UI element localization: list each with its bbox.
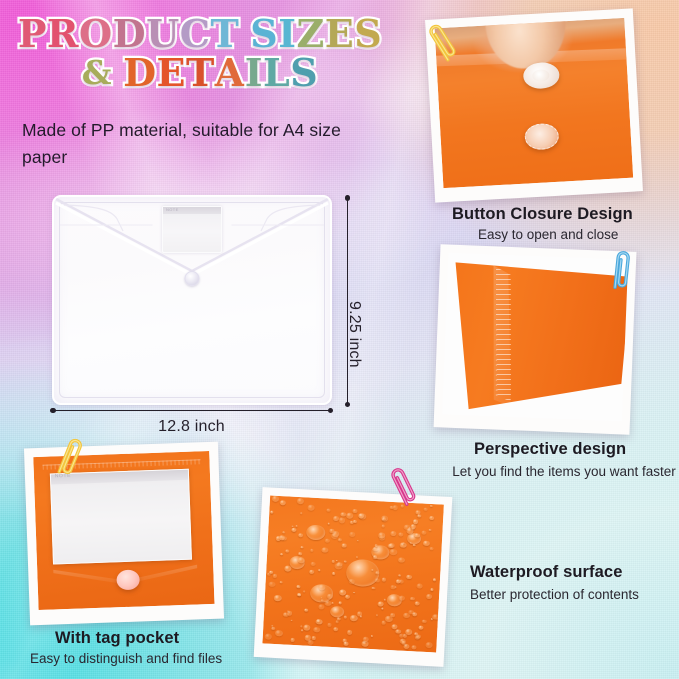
water-droplet (423, 508, 428, 512)
water-droplet (290, 638, 295, 642)
water-droplet (422, 540, 430, 546)
water-droplet (272, 496, 279, 502)
snap-button-lower (524, 122, 560, 150)
water-droplet (301, 546, 304, 548)
water-droplet (372, 587, 375, 590)
width-dimension-line: 12.8 inch (52, 410, 331, 411)
water-droplet (398, 557, 405, 563)
water-droplet (312, 636, 316, 639)
water-droplet (274, 595, 282, 601)
water-droplet (310, 561, 316, 566)
feature-title-waterproof-surface: Waterproof surface (470, 563, 622, 582)
feature-photo-perspective-design (434, 244, 637, 434)
water-droplet (398, 574, 401, 577)
water-droplet (304, 608, 308, 611)
water-droplet (338, 601, 342, 604)
water-droplet (413, 544, 416, 547)
water-droplet (381, 524, 385, 527)
water-droplet (330, 529, 334, 533)
feature-subtitle-button-closure: Easy to open and close (478, 226, 618, 244)
feature-title-perspective-design: Perspective design (474, 440, 626, 459)
water-droplet (382, 577, 387, 581)
water-droplet (411, 645, 416, 649)
feature-photo-tag-pocket: NOTE (24, 442, 224, 626)
photo-tag-pocket: NOTE (33, 451, 214, 610)
feature-photo-button-closure (425, 8, 643, 202)
water-droplet (410, 597, 414, 601)
water-droplet (335, 620, 339, 623)
water-droplet (327, 522, 330, 524)
water-droplet (296, 498, 304, 504)
water-droplet (375, 578, 380, 582)
water-droplet (350, 615, 358, 621)
water-droplet (298, 593, 301, 596)
feature-subtitle-perspective-design: Let you find the items you want faster (451, 463, 677, 481)
feature-subtitle-waterproof-surface: Better protection of contents (470, 586, 639, 604)
water-droplet (275, 630, 283, 636)
feature-subtitle-tag-pocket: Easy to distinguish and find files (30, 650, 222, 668)
water-droplet (430, 547, 434, 550)
water-droplet (385, 616, 393, 623)
photo-button-closure (435, 18, 634, 188)
water-droplet (273, 574, 278, 578)
water-droplet (265, 633, 273, 639)
water-droplet (378, 532, 385, 538)
feature-title-tag-pocket: With tag pocket (55, 629, 179, 648)
water-droplet (389, 549, 397, 555)
water-droplet (303, 625, 311, 631)
water-droplet (352, 519, 357, 523)
water-droplet (306, 524, 326, 540)
water-droplet (327, 623, 332, 627)
water-droplet (345, 594, 350, 598)
photo-tag-pocket-image: NOTE (33, 451, 214, 610)
photo-button-closure-image (435, 18, 634, 188)
tag-pocket-window-header: NOTE (51, 470, 189, 485)
water-droplet (432, 614, 439, 620)
water-droplet (398, 533, 403, 537)
water-droplet (418, 625, 424, 630)
water-droplet (279, 500, 285, 505)
water-droplet (326, 509, 330, 512)
water-droplet (384, 599, 386, 601)
water-droplet (391, 585, 396, 589)
water-droplet (331, 560, 335, 563)
water-droplet (388, 544, 393, 549)
water-droplet (291, 525, 293, 526)
water-droplet (347, 630, 353, 635)
tag-pocket-window: NOTE (50, 469, 192, 565)
water-droplet (356, 556, 358, 558)
water-droplet (344, 560, 347, 562)
water-droplet (268, 581, 275, 587)
orange-folder-sheet (442, 256, 628, 419)
water-droplet (307, 504, 315, 510)
water-droplet (330, 605, 344, 617)
photo-perspective-design (442, 253, 628, 422)
water-droplet (406, 528, 413, 534)
water-droplet (400, 505, 403, 508)
feature-title-button-closure: Button Closure Design (452, 205, 633, 224)
water-droplet (382, 519, 384, 521)
water-droplet (406, 574, 412, 579)
water-droplet (377, 602, 383, 607)
height-dimension-label: 9.25 inch (345, 301, 363, 368)
water-droplet (283, 531, 286, 533)
water-droplet (269, 570, 273, 574)
water-droplet (344, 642, 349, 646)
water-droplet (426, 594, 432, 599)
water-droplet (295, 525, 298, 527)
water-droplet (363, 636, 369, 641)
water-droplet (270, 510, 274, 513)
water-droplet (421, 530, 427, 535)
water-droplet (391, 624, 397, 629)
water-droplet (399, 595, 406, 601)
water-droplet (416, 583, 423, 588)
width-dimension-label: 12.8 inch (158, 418, 225, 436)
tag-pocket-window-label: NOTE (55, 473, 71, 480)
water-droplet (331, 533, 338, 539)
water-droplet (417, 514, 421, 518)
width-dimension-cap-left (50, 408, 56, 414)
height-dimension-cap-top (345, 195, 351, 201)
water-droplet (353, 592, 355, 594)
water-droplet (300, 512, 302, 514)
water-droplet (371, 569, 373, 571)
water-droplet (271, 625, 273, 627)
water-droplet (346, 513, 353, 519)
envelope-snap-button (185, 271, 200, 286)
water-droplet (360, 616, 363, 618)
tag-pocket-stitching (42, 459, 200, 470)
tag-pocket-snap-button (116, 570, 140, 591)
water-droplet (333, 627, 338, 631)
water-droplet (429, 505, 432, 508)
water-droplet (281, 553, 284, 555)
water-droplet (401, 641, 405, 645)
water-droplet (403, 644, 409, 649)
water-droplet (405, 629, 413, 635)
water-droplet (313, 627, 320, 632)
feature-photo-waterproof-surface (254, 487, 453, 667)
water-droplet (357, 540, 359, 542)
photo-perspective-design-image (442, 253, 628, 422)
water-droplet (433, 578, 436, 581)
photo-waterproof-surface (262, 496, 444, 653)
snap-button-upper (522, 62, 559, 90)
water-droplet (318, 570, 320, 571)
water-droplet (307, 639, 314, 644)
envelope-tag-pocket-label: NOTE (166, 207, 179, 212)
water-droplet (430, 588, 434, 591)
page-subtitle: Made of PP material, suitable for A4 siz… (22, 117, 378, 170)
water-droplet (412, 519, 418, 524)
water-droplet (325, 538, 330, 542)
water-droplet (298, 552, 301, 555)
water-droplet (291, 619, 293, 621)
water-droplet (353, 509, 358, 513)
water-droplet (428, 529, 431, 532)
water-droplet (349, 579, 355, 584)
water-droplet (318, 605, 325, 610)
water-droplet (280, 581, 283, 583)
height-dimension-line: 9.25 inch (347, 197, 348, 405)
water-droplet (338, 517, 345, 523)
water-droplet (349, 532, 355, 537)
water-droplet (371, 636, 373, 638)
photo-waterproof-surface-image (262, 496, 444, 653)
water-droplet (301, 630, 303, 632)
water-droplet (425, 642, 433, 648)
water-droplet (408, 610, 414, 615)
water-droplet (296, 585, 301, 589)
water-droplet (343, 615, 347, 618)
water-droplet (310, 570, 315, 574)
water-droplet (291, 527, 297, 532)
clear-envelope-illustration: NOTE (52, 195, 332, 405)
water-droplet (340, 512, 346, 517)
water-droplet (372, 555, 377, 559)
water-droplet (271, 627, 275, 630)
water-droplet (415, 601, 420, 605)
width-dimension-rule (52, 410, 331, 411)
water-droplet (382, 608, 384, 610)
water-droplet (327, 593, 333, 598)
envelope-tag-pocket: NOTE (162, 206, 222, 253)
water-droplet (422, 619, 427, 623)
water-droplet (429, 516, 434, 520)
water-droplet (337, 538, 341, 542)
water-droplet (324, 600, 331, 606)
water-droplet (334, 563, 342, 570)
infographic-canvas: PRODUCTSIZES &DETAILS Made of PP materia… (0, 0, 679, 679)
water-droplet (311, 549, 314, 551)
water-droplet (286, 550, 290, 553)
product-diagram: NOTE (52, 195, 332, 405)
envelope-tag-pocket-header: NOTE (163, 207, 221, 214)
water-droplet (342, 543, 347, 547)
water-droplet (399, 633, 405, 638)
water-droplet (321, 548, 328, 554)
water-droplet (298, 533, 303, 537)
water-droplet (376, 615, 378, 617)
water-droplet (332, 572, 335, 575)
water-droplet (303, 591, 306, 593)
water-droplet (284, 566, 291, 572)
water-droplet (361, 641, 368, 647)
water-droplet (391, 531, 397, 536)
